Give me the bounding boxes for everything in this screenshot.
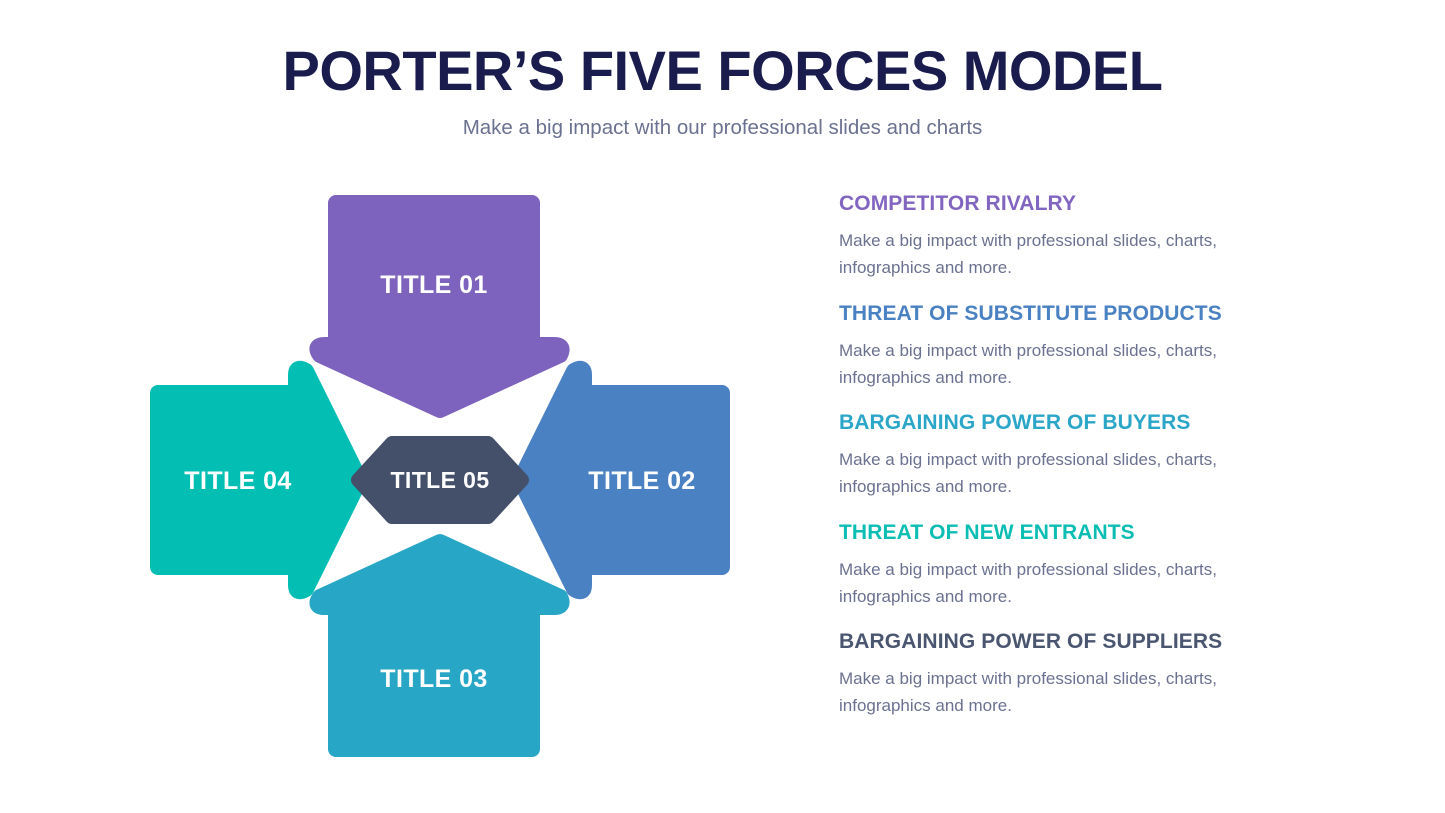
arrow-bottom-shape: [317, 542, 561, 749]
arrow-top-shape: [317, 203, 561, 410]
arrow-left[interactable]: TITLE 04: [158, 369, 360, 592]
legend-heading: COMPETITOR RIVALRY: [839, 192, 1309, 216]
legend-heading: BARGAINING POWER OF BUYERS: [839, 411, 1309, 435]
legend-item-bargaining-power-of-suppliers: BARGAINING POWER OF SUPPLIERS Make a big…: [839, 630, 1309, 720]
arrow-bottom[interactable]: TITLE 03: [317, 542, 561, 749]
legend-body: Make a big impact with professional slid…: [839, 227, 1291, 281]
arrow-left-label: TITLE 04: [184, 467, 291, 495]
arrow-top[interactable]: TITLE 01: [317, 203, 561, 410]
page-subtitle: Make a big impact with our professional …: [0, 115, 1445, 142]
legend-heading: THREAT OF NEW ENTRANTS: [839, 521, 1309, 545]
arrow-top-label: TITLE 01: [380, 271, 487, 299]
porters-five-forces-diagram: TITLE 01 TITLE 04 TITLE 02 TITLE 03 TITL…: [140, 195, 740, 765]
legend-body: Make a big impact with professional slid…: [839, 337, 1291, 391]
page-title: PORTER’S FIVE FORCES MODEL: [0, 42, 1445, 101]
legend-heading: THREAT OF SUBSTITUTE PRODUCTS: [839, 302, 1309, 326]
legend-heading: BARGAINING POWER OF SUPPLIERS: [839, 630, 1309, 654]
center-hexagon[interactable]: TITLE 05: [358, 443, 522, 517]
legend-item-threat-of-new-entrants: THREAT OF NEW ENTRANTS Make a big impact…: [839, 521, 1309, 611]
legend-item-bargaining-power-of-buyers: BARGAINING POWER OF BUYERS Make a big im…: [839, 411, 1309, 501]
legend-body: Make a big impact with professional slid…: [839, 665, 1291, 719]
center-hexagon-label: TITLE 05: [390, 467, 489, 493]
arrow-bottom-label: TITLE 03: [380, 665, 487, 693]
legend-item-threat-of-substitute-products: THREAT OF SUBSTITUTE PRODUCTS Make a big…: [839, 302, 1309, 392]
arrow-right[interactable]: TITLE 02: [520, 369, 722, 592]
arrow-right-label: TITLE 02: [588, 467, 695, 495]
legend-body: Make a big impact with professional slid…: [839, 556, 1291, 610]
forces-legend: COMPETITOR RIVALRY Make a big impact wit…: [839, 192, 1309, 720]
header: PORTER’S FIVE FORCES MODEL Make a big im…: [0, 42, 1445, 141]
legend-item-competitor-rivalry: COMPETITOR RIVALRY Make a big impact wit…: [839, 192, 1309, 282]
legend-body: Make a big impact with professional slid…: [839, 446, 1291, 500]
